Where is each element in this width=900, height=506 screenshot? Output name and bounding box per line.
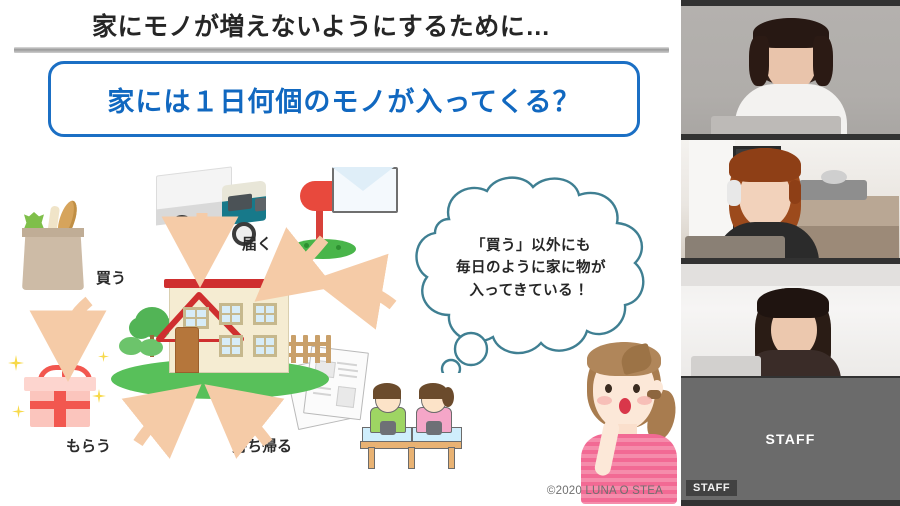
tile-center-name-staff: STAFF: [681, 431, 900, 447]
video-tile-4[interactable]: STAFF STAFF: [681, 378, 900, 500]
sparkle-icon: [98, 351, 109, 362]
label-receive: もらう: [66, 435, 111, 456]
tile-name-badge-staff: STAFF: [686, 480, 737, 496]
bubble-line-2: 毎日のように家に物が: [431, 257, 631, 279]
video-tile-3[interactable]: [681, 264, 900, 376]
slide-canvas: 家にモノが増えないようにするために… 家には１日何個のモノが入ってくる？ 買う: [6, 3, 675, 503]
gift-box-icon: [24, 365, 96, 427]
title-divider: [14, 47, 669, 53]
grocery-bag-icon: [16, 198, 90, 290]
video-feed-1: [681, 6, 900, 134]
question-box: 家には１日何個のモノが入ってくる？: [48, 61, 640, 137]
video-feed-2: [681, 140, 900, 258]
envelope-icon: [332, 167, 398, 213]
flow-diagram: 買う もらう: [6, 143, 675, 503]
school-children-icon: [358, 381, 468, 465]
copyright-notice: ©2020 LUNA O STEA: [547, 485, 663, 497]
bubble-line-1: 「買う」以外にも: [431, 235, 631, 257]
shared-slide[interactable]: 家にモノが増えないようにするために… 家には１日何個のモノが入ってくる？ 買う: [0, 0, 681, 506]
video-tile-1[interactable]: [681, 6, 900, 134]
question-text: 家には１日何個のモノが入ってくる？: [51, 64, 637, 134]
meeting-screen-share-window: 家にモノが増えないようにするために… 家には１日何個のモノが入ってくる？ 買う: [0, 0, 900, 506]
label-bring-home: 持ち帰る: [232, 435, 292, 456]
video-tile-2[interactable]: [681, 140, 900, 258]
label-deliver: 届く: [242, 233, 272, 254]
bubble-line-3: 入ってきている ！: [431, 280, 631, 302]
slide-title: 家にモノが増えないようにするために…: [92, 9, 652, 45]
participant-video-panel: STAFF STAFF: [681, 0, 900, 506]
girl-illustration: [571, 338, 681, 503]
video-feed-3: [681, 264, 900, 376]
fence-icon: [289, 335, 331, 365]
house-illustration: [111, 261, 331, 411]
thought-bubble-text: 「買う」以外にも 毎日のように家に物が 入ってきている ！: [431, 235, 631, 302]
sparkle-icon: [8, 355, 24, 371]
